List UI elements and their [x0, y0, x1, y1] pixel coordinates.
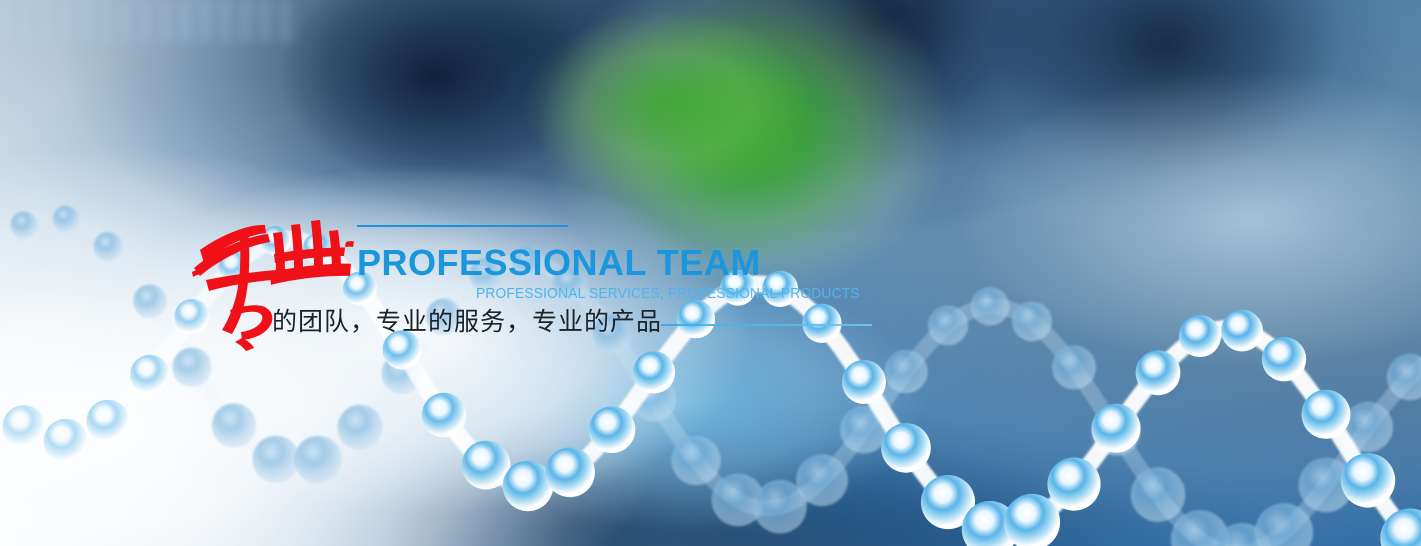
subtitle-chinese: 的团队，专业的服务，专业的产品 [272, 305, 662, 339]
page-title: PROFESSIONAL TEAM [357, 243, 761, 283]
headline-block: PROFESSIONAL TEAM PROFESSIONAL SERVICES,… [0, 0, 1421, 546]
rule-top [357, 225, 568, 227]
rule-bottom [661, 324, 872, 326]
background-blurred-text [0, 0, 300, 42]
professional-team-banner: PROFESSIONAL TEAM PROFESSIONAL SERVICES,… [0, 0, 1421, 546]
subtitle-english: PROFESSIONAL SERVICES, PROFESSIONAL PROD… [476, 285, 860, 303]
